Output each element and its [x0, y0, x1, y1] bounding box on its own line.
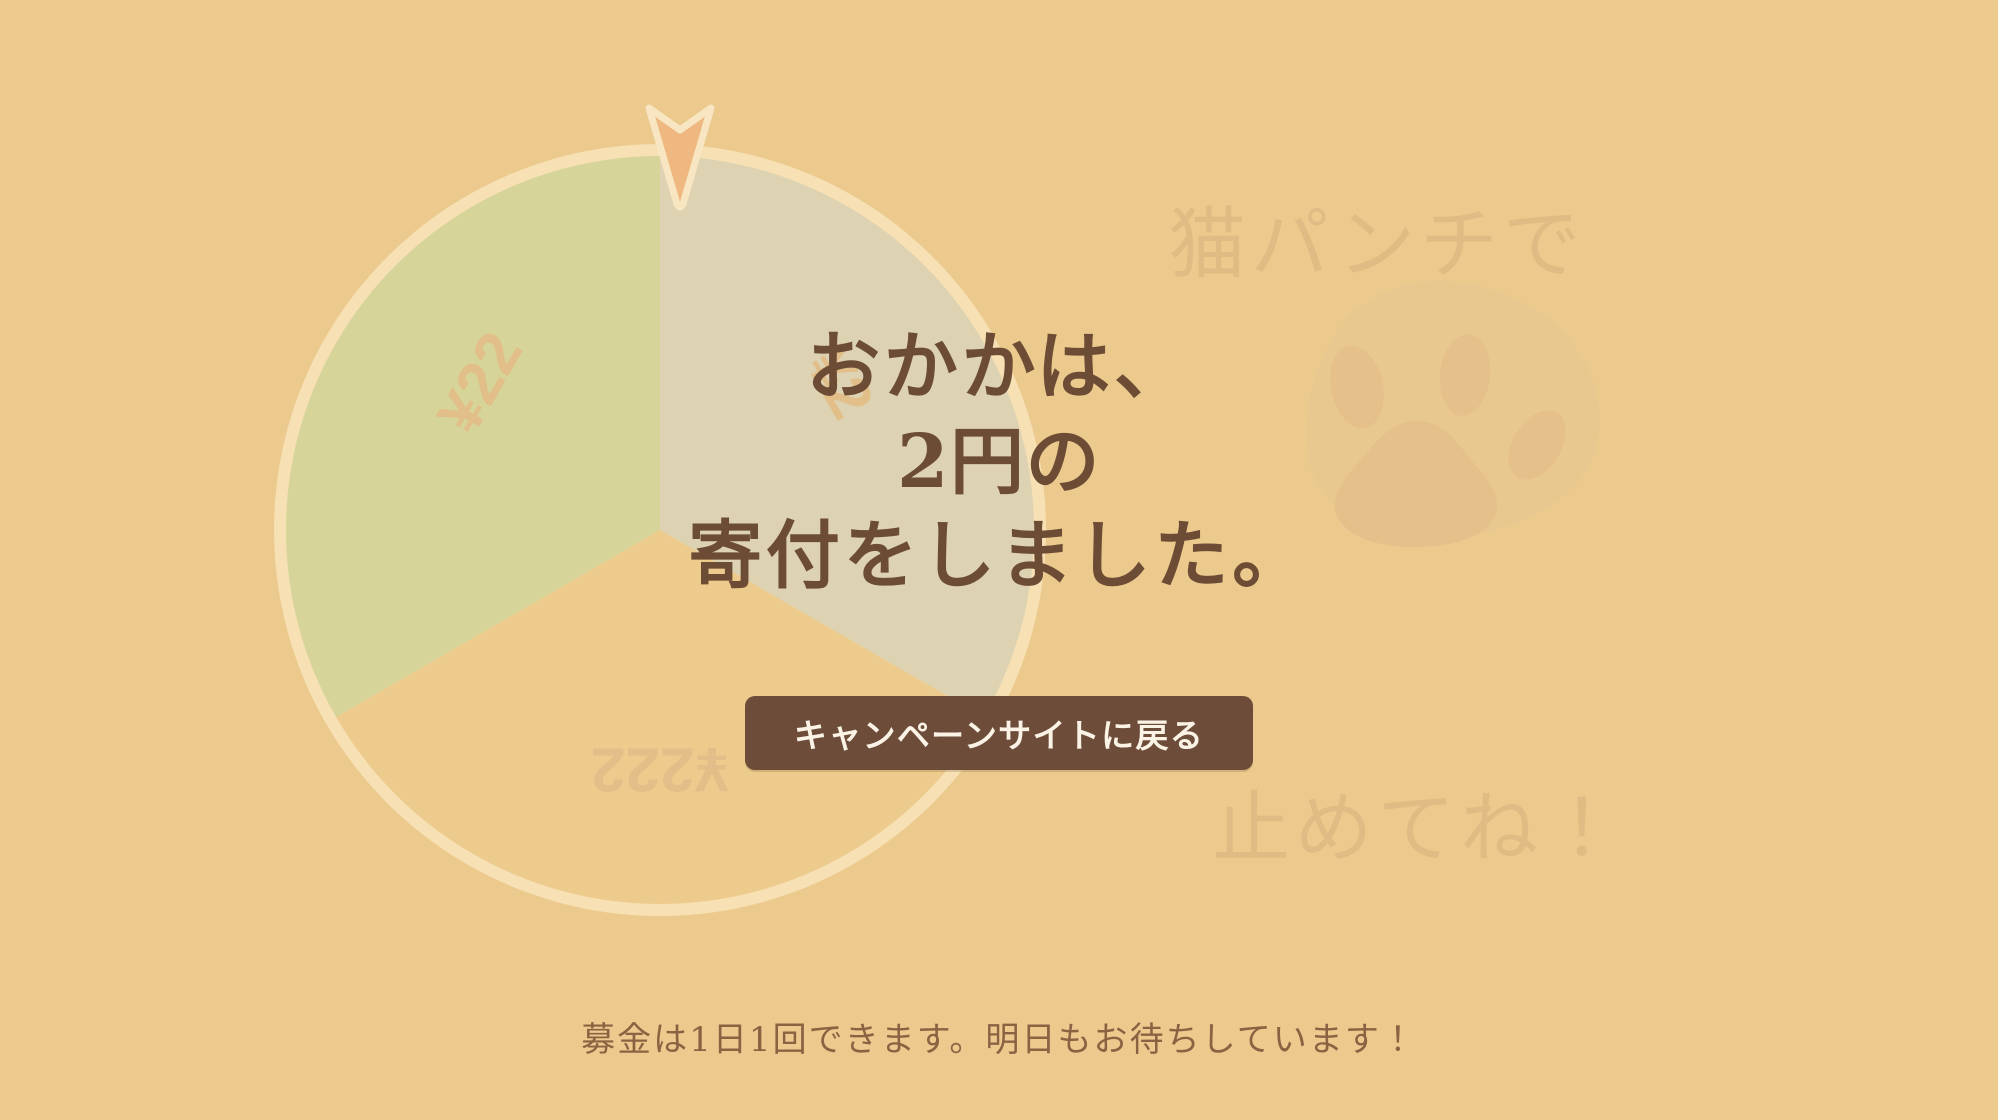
result-content: おかかは、 2円の 寄付をしました。 キャンペーンサイトに戻る 募金は1日1回で…: [0, 0, 1998, 1120]
footnote-text: 募金は1日1回できます。明日もお待ちしています！: [0, 1012, 1998, 1061]
headline-line-3: 寄付をしました。: [688, 509, 1310, 604]
headline-line-2: 2円の: [688, 415, 1310, 510]
result-page: 猫パンチで 止めてね！: [0, 0, 1998, 1120]
back-to-campaign-site-button[interactable]: キャンペーンサイトに戻る: [745, 696, 1253, 770]
headline-line-1: おかかは、: [688, 320, 1310, 415]
page-title: おかかは、 2円の 寄付をしました。: [688, 320, 1310, 604]
